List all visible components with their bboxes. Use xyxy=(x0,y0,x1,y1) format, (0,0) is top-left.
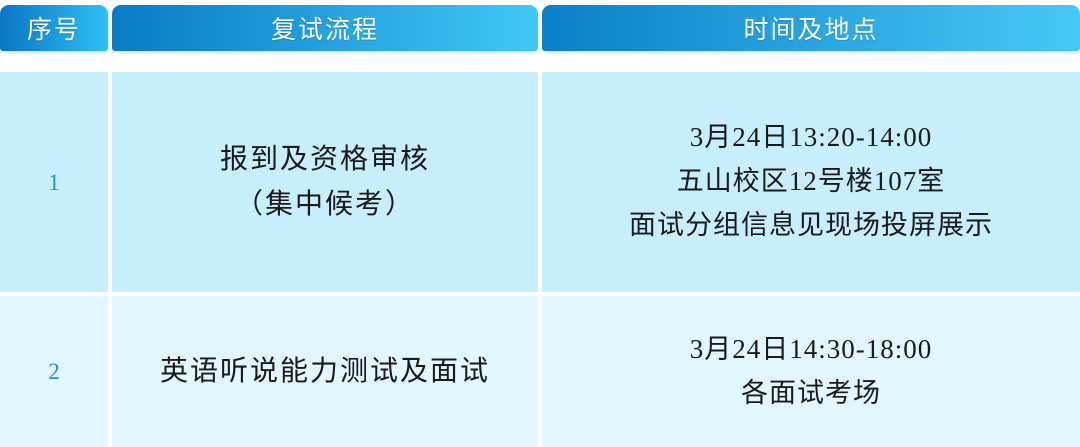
location-line: 各面试考场 xyxy=(741,372,881,416)
process-line: 英语听说能力测试及面试 xyxy=(160,349,490,394)
time-line: 3月24日14:30-18:00 xyxy=(690,328,933,372)
column-header-sequence: 序号 xyxy=(0,5,108,51)
table-row: 2 英语听说能力测试及面试 3月24日14:30-18:00 各面试考场 xyxy=(0,296,1080,447)
row-sequence-number: 1 xyxy=(48,171,60,194)
column-header-time-location: 时间及地点 xyxy=(542,5,1080,51)
row-time-location-cell: 3月24日13:20-14:00 五山校区12号楼107室 面试分组信息见现场投… xyxy=(542,72,1080,292)
column-header-process: 复试流程 xyxy=(112,5,538,51)
table-header-row: 序号 复试流程 时间及地点 xyxy=(0,5,1080,51)
row-process-cell: 报到及资格审核 （集中候考） xyxy=(112,72,538,292)
schedule-table: 序号 复试流程 时间及地点 1 报到及资格审核 （集中候考） 3月24日13:2… xyxy=(0,0,1080,447)
row-time-location-cell: 3月24日14:30-18:00 各面试考场 xyxy=(542,296,1080,447)
row-sequence-number: 2 xyxy=(48,360,60,383)
process-line: 报到及资格审核 xyxy=(220,137,430,182)
row-sequence-cell: 1 xyxy=(0,72,108,292)
time-line: 3月24日13:20-14:00 xyxy=(690,116,933,160)
location-line: 五山校区12号楼107室 xyxy=(677,160,946,204)
row-process-cell: 英语听说能力测试及面试 xyxy=(112,296,538,447)
note-line: 面试分组信息见现场投屏展示 xyxy=(629,204,993,248)
row-sequence-cell: 2 xyxy=(0,296,108,447)
process-line: （集中候考） xyxy=(235,182,415,227)
table-row: 1 报到及资格审核 （集中候考） 3月24日13:20-14:00 五山校区12… xyxy=(0,72,1080,292)
